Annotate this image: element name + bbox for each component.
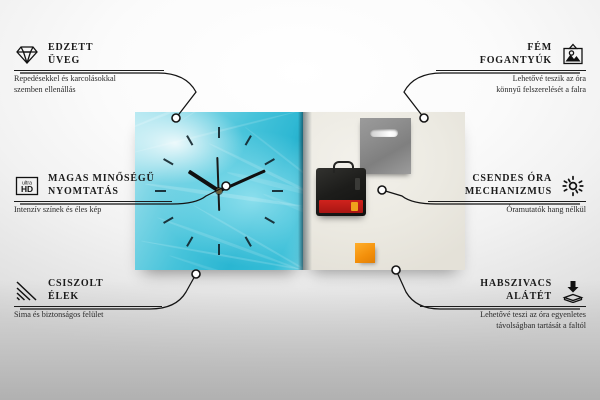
- gear-icon: [560, 174, 586, 198]
- callout-subtitle: Repedésekkel és karcolásokkalszemben ell…: [14, 74, 164, 95]
- clock-tick: [219, 190, 283, 192]
- callout-title: FÉMFOGANTYÚK: [480, 42, 552, 67]
- ultra-hd-icon: ultra HD: [14, 174, 40, 198]
- callout-divider: [428, 201, 586, 202]
- callout-divider: [436, 70, 586, 71]
- foam-pad: [355, 243, 375, 263]
- callout-title: CSENDES ÓRAMECHANIZMUS: [465, 173, 552, 198]
- callout-silent-mechanism[interactable]: CSENDES ÓRAMECHANIZMUS Óramutatók hang n…: [428, 173, 586, 216]
- callout-header: CSENDES ÓRAMECHANIZMUS: [428, 173, 586, 198]
- battery-label: [319, 200, 363, 213]
- callout-subtitle: Óramutatók hang nélkül: [428, 205, 586, 216]
- callout-header: FÉMFOGANTYÚK: [436, 42, 586, 67]
- callout-subtitle: Sima és biztonságos felület: [14, 310, 162, 321]
- infographic-canvas: EDZETTÜVEG Repedésekkel és karcolásokkal…: [0, 0, 600, 400]
- callout-subtitle: Lehetővé teszik az órakönnyű felszerelés…: [436, 74, 586, 95]
- callout-header: HABSZIVACSALÁTÉT: [420, 278, 586, 303]
- metal-hanger: [360, 118, 411, 174]
- callout-divider: [14, 70, 164, 71]
- callout-high-quality-print[interactable]: ultra HD MAGAS MINŐSÉGŰNYOMTATÁS Intenzí…: [14, 173, 172, 216]
- callout-divider: [14, 306, 162, 307]
- callout-title: CSISZOLTÉLEK: [48, 278, 104, 303]
- callout-title: HABSZIVACSALÁTÉT: [480, 278, 552, 303]
- callout-tempered-glass[interactable]: EDZETTÜVEG Repedésekkel és karcolásokkal…: [14, 42, 164, 95]
- callout-subtitle: Lehetővé teszi az óra egyenletestávolság…: [420, 310, 586, 331]
- callout-header: CSISZOLTÉLEK: [14, 278, 162, 303]
- callout-header: EDZETTÜVEG: [14, 42, 164, 67]
- callout-foam-spacer[interactable]: HABSZIVACSALÁTÉT Lehetővé teszi az óra e…: [420, 278, 586, 331]
- callout-title: MAGAS MINŐSÉGŰNYOMTATÁS: [48, 173, 154, 198]
- clock-center-cap: [216, 188, 222, 194]
- movement-shaft: [355, 178, 360, 190]
- polished-edge-icon: [14, 279, 40, 303]
- callout-divider: [420, 306, 586, 307]
- callout-metal-handles[interactable]: FÉMFOGANTYÚK Lehetővé teszik az órakönny…: [436, 42, 586, 95]
- foam-pad-icon: [560, 279, 586, 303]
- callout-title: EDZETTÜVEG: [48, 42, 93, 67]
- svg-text:HD: HD: [21, 184, 33, 194]
- hanger-slot: [370, 129, 398, 137]
- callout-divider: [14, 201, 172, 202]
- diamond-icon: [14, 43, 40, 67]
- quartz-movement: [316, 168, 366, 216]
- connector-dot-polished-edges: [192, 270, 200, 278]
- callout-polished-edges[interactable]: CSISZOLTÉLEK Sima és biztonságos felület: [14, 278, 162, 321]
- picture-hanger-icon: [560, 43, 586, 67]
- movement-hook: [333, 161, 354, 173]
- product-image: [135, 112, 465, 270]
- callout-header: ultra HD MAGAS MINŐSÉGŰNYOMTATÁS: [14, 173, 172, 198]
- callout-subtitle: Intenzív színek és éles kép: [14, 205, 172, 216]
